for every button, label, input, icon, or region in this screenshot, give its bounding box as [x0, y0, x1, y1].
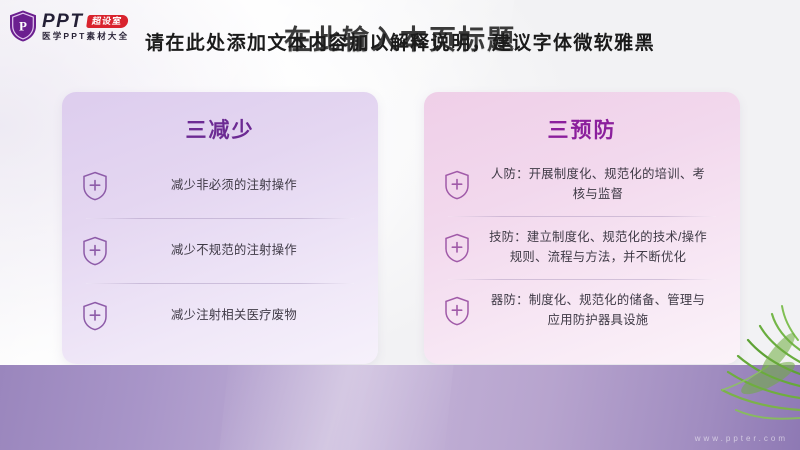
list-item-label: 减少非必须的注射操作 [124, 176, 358, 196]
list-item-label: 人防：开展制度化、规范化的培训、考核与监督 [486, 165, 720, 204]
list-item-label: 器防：制度化、规范化的储备、管理与应用防护器具设施 [486, 291, 720, 330]
list-item[interactable]: 减少注射相关医疗废物 [82, 284, 358, 348]
card-right-list: 人防：开展制度化、规范化的培训、考核与监督 技防：建立制度化、规范化的技术/操作… [424, 154, 740, 342]
list-item-label: 减少不规范的注射操作 [124, 241, 358, 261]
footer-text: 请在此处添加文本内容加以解释说明，建议字体微软雅黑 [0, 28, 800, 55]
card-three-reductions: 三减少 减少非必须的注射操作 减 [62, 92, 378, 364]
list-item[interactable]: 减少非必须的注射操作 [82, 154, 358, 218]
card-left-title: 三减少 [62, 114, 378, 144]
list-item-label: 技防：建立制度化、规范化的技术/操作规则、流程与方法，并不断优化 [486, 228, 720, 267]
shield-plus-icon [82, 301, 108, 331]
shield-plus-icon [82, 236, 108, 266]
list-item-label: 减少注射相关医疗废物 [124, 306, 358, 326]
card-right-title: 三预防 [424, 114, 740, 144]
shield-plus-icon [444, 296, 470, 326]
shield-plus-icon [82, 171, 108, 201]
footer-band [0, 365, 800, 450]
card-three-preventions: 三预防 人防：开展制度化、规范化的培训、考核与监督 [424, 92, 740, 364]
list-item[interactable]: 人防：开展制度化、规范化的培训、考核与监督 [444, 154, 720, 216]
shield-plus-icon [444, 233, 470, 263]
shield-plus-icon [444, 170, 470, 200]
list-item[interactable]: 减少不规范的注射操作 [82, 219, 358, 283]
list-item[interactable]: 器防：制度化、规范化的储备、管理与应用防护器具设施 [444, 280, 720, 342]
watermark: www.ppter.com [695, 434, 788, 443]
slide-canvas: P PPT 超设室 医学PPT素材大全 在此输入本页标题 三减少 减少 [0, 0, 800, 450]
list-item[interactable]: 技防：建立制度化、规范化的技术/操作规则、流程与方法，并不断优化 [444, 217, 720, 279]
card-left-list: 减少非必须的注射操作 减少不规范的注射操作 [62, 154, 378, 348]
